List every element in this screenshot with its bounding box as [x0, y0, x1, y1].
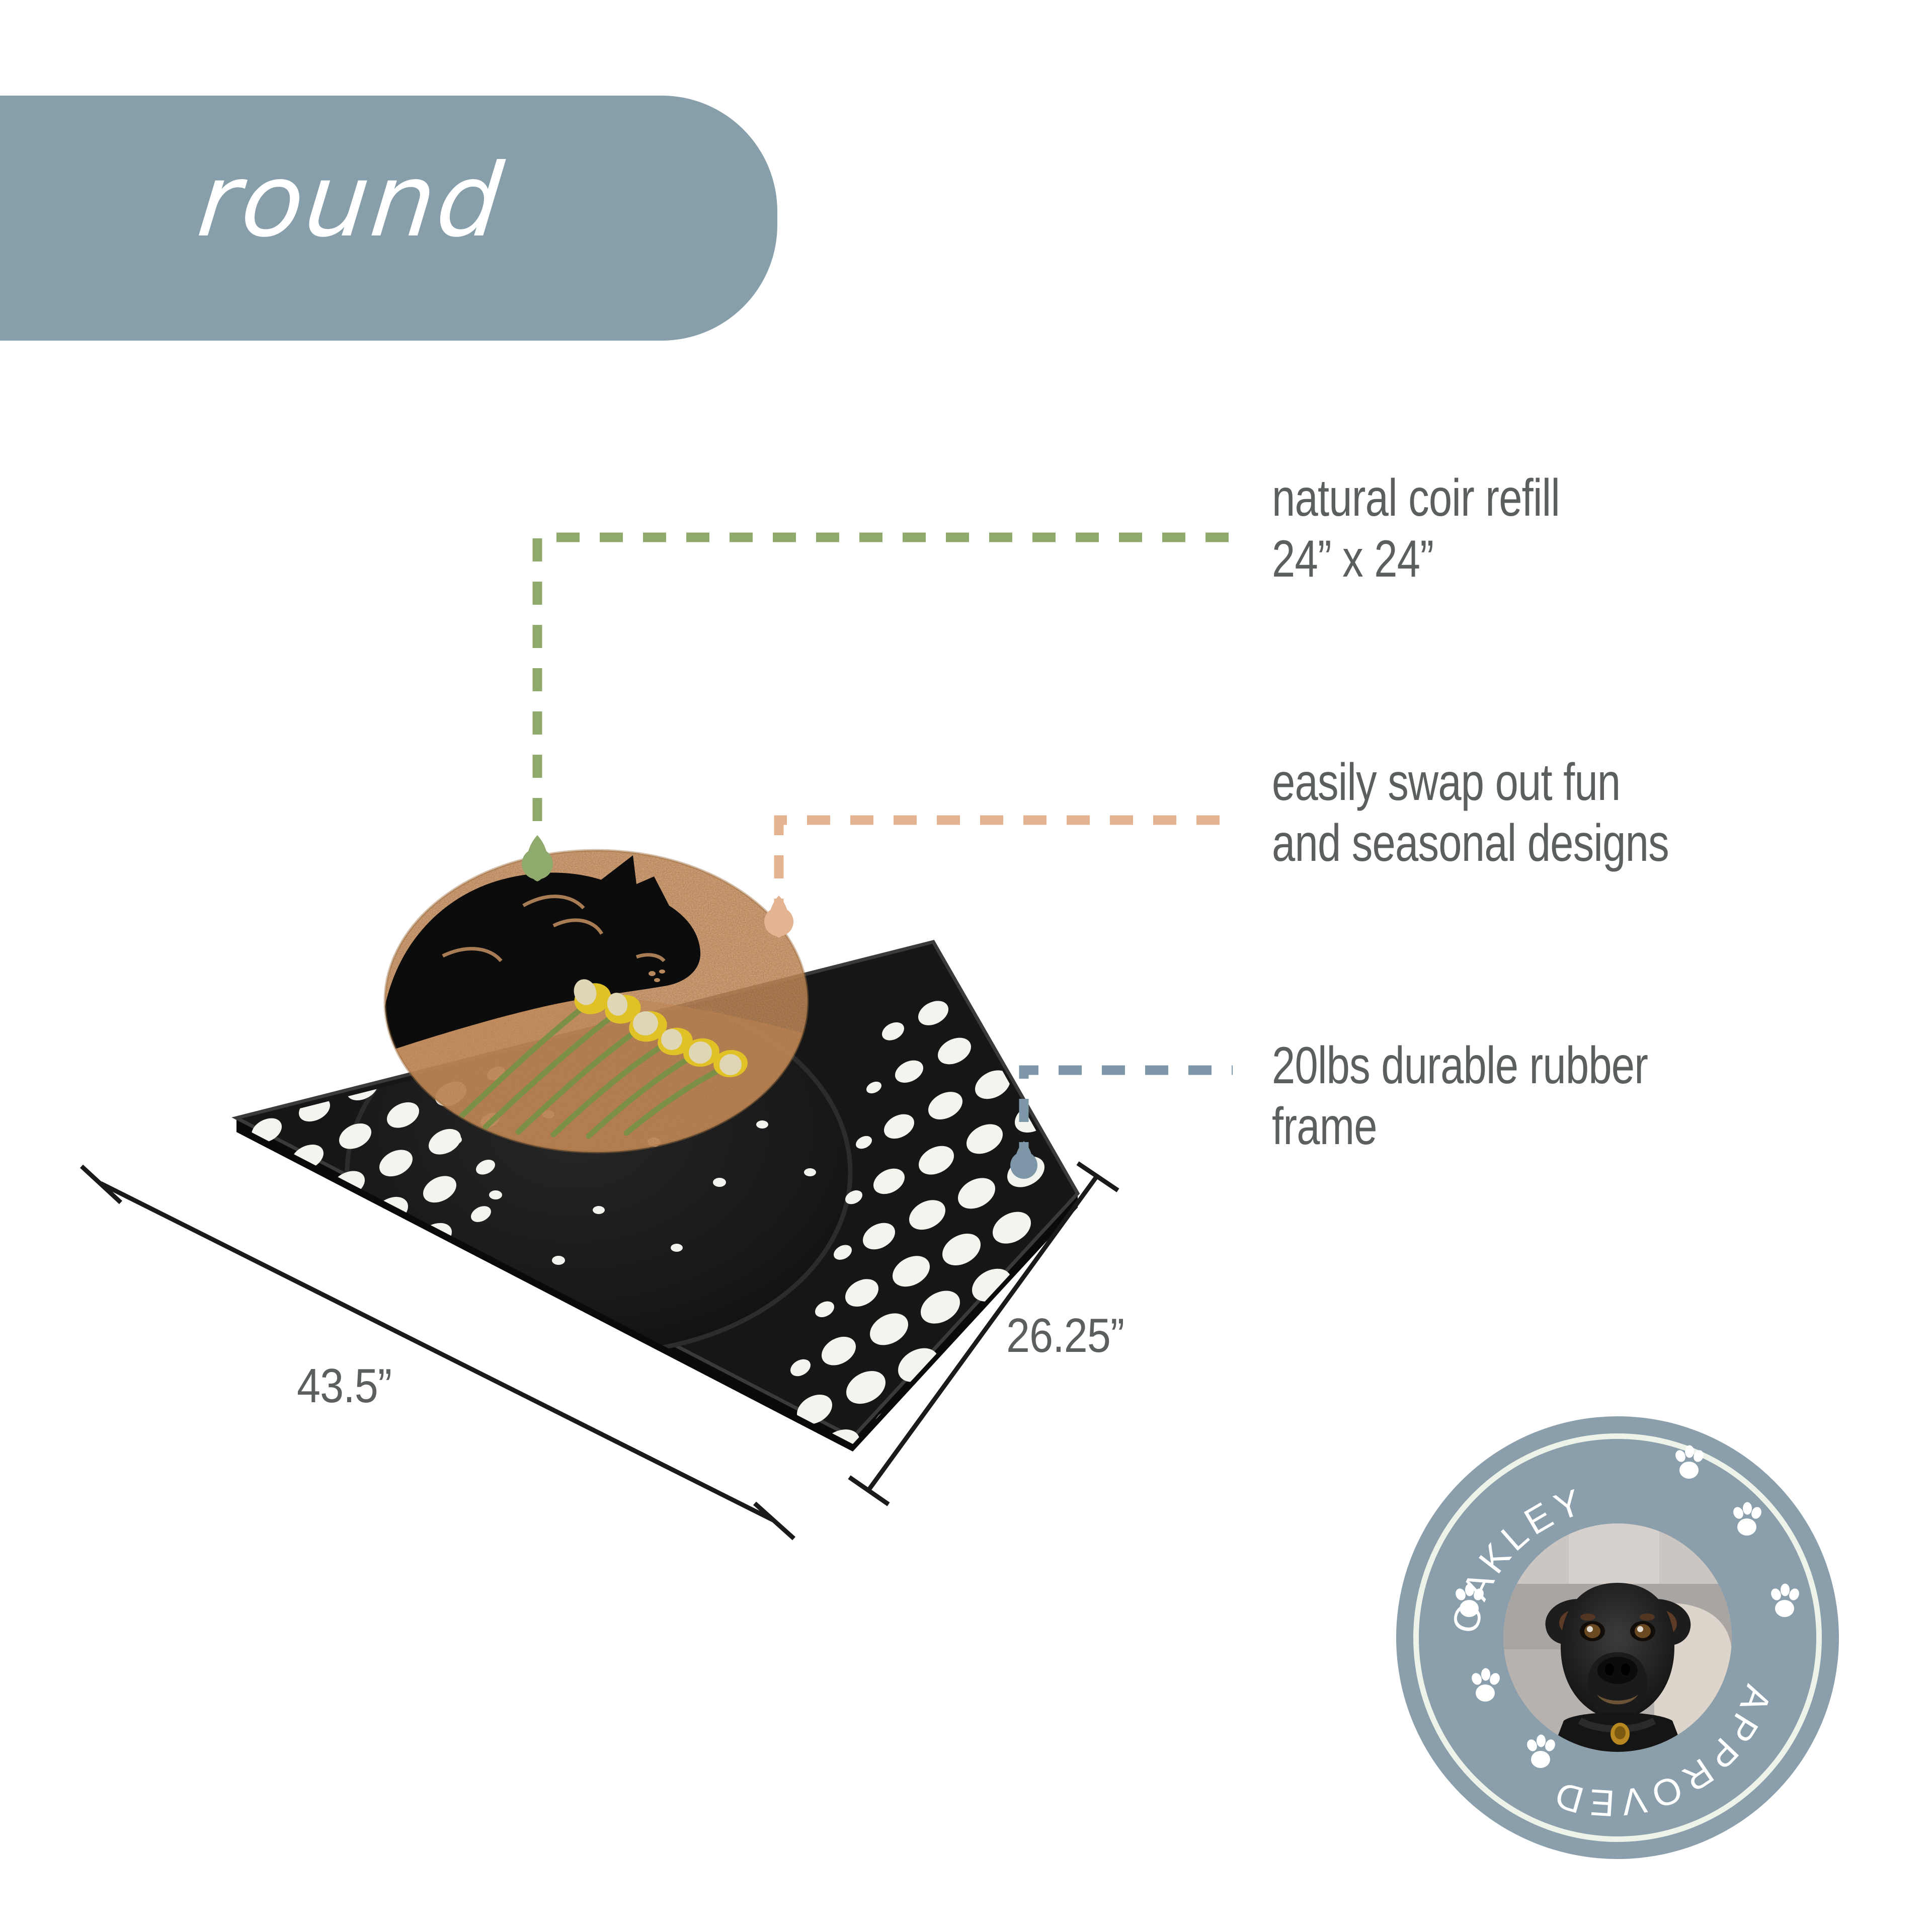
oakley-approved-badge: OAKLEY APPROVED	[1396, 1416, 1839, 1859]
dimension-depth-label: 26.25”	[1006, 1308, 1124, 1363]
paw-print-icon	[1728, 1501, 1765, 1539]
paw-print-icon	[1522, 1733, 1559, 1772]
paw-print-icon	[1766, 1582, 1803, 1621]
paw-print-icon	[1467, 1667, 1504, 1705]
paw-print-icon	[1451, 1582, 1488, 1621]
paw-print-icon	[1670, 1444, 1708, 1482]
pet-photo	[1503, 1523, 1732, 1752]
infographic-canvas: round	[0, 0, 1932, 1932]
dimension-width-label: 43.5”	[297, 1358, 391, 1414]
